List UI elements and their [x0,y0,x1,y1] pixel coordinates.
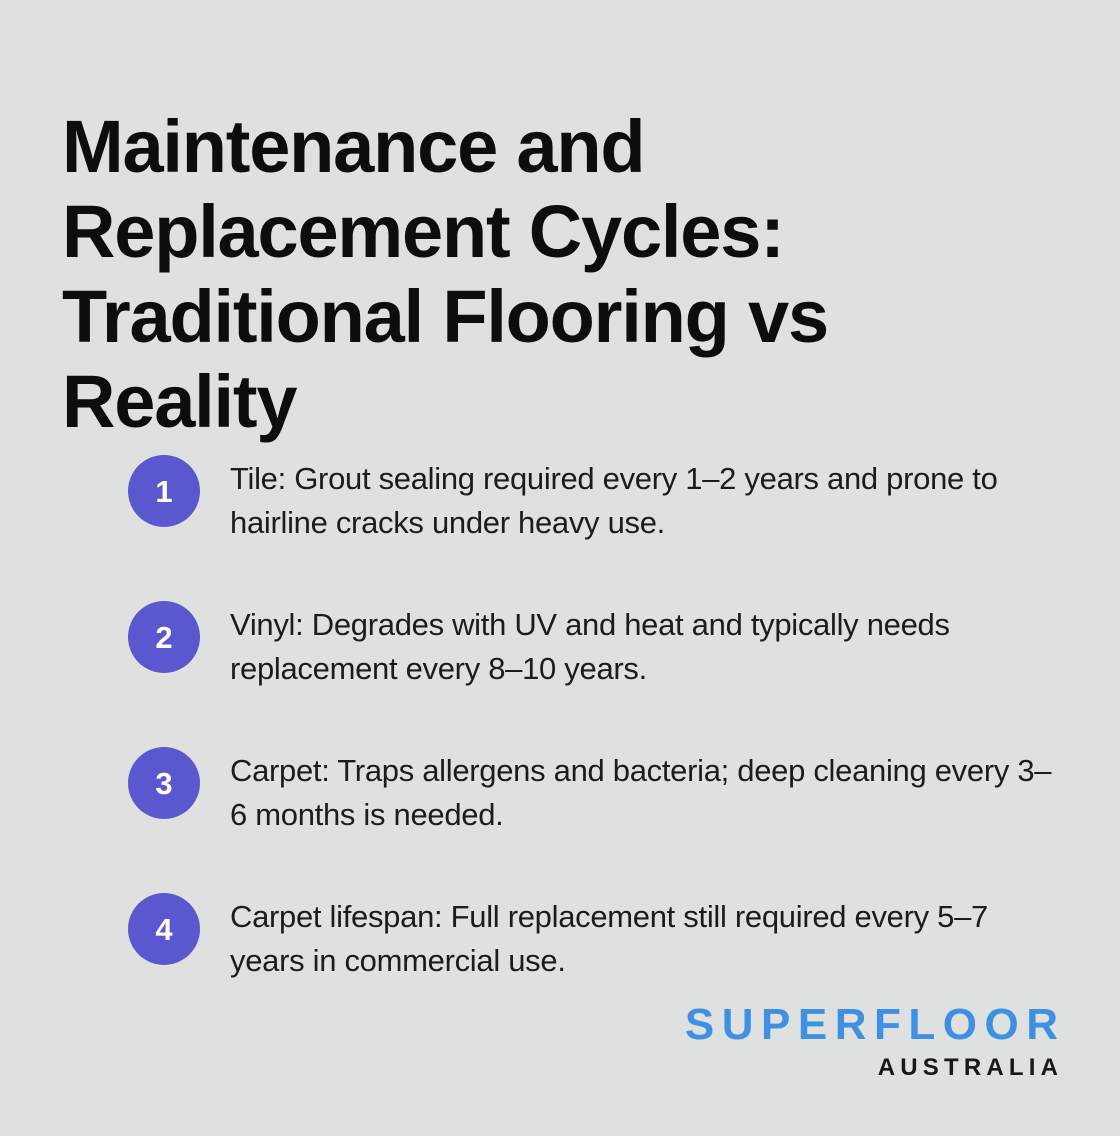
list-item: 4 Carpet lifespan: Full replacement stil… [128,893,1068,983]
list-item-number-badge: 4 [128,893,200,965]
list-item-number-badge: 1 [128,455,200,527]
list-item-number-badge: 3 [128,747,200,819]
brand-logo: SUPERFLOOR AUSTRALIA [685,1003,1058,1080]
title-block: Maintenance and Replacement Cycles: Trad… [62,104,1062,444]
brand-logo-secondary-text: AUSTRALIA [685,1056,1063,1080]
list-item-number-badge: 2 [128,601,200,673]
numbered-list: 1 Tile: Grout sealing required every 1–2… [128,455,1068,983]
list-item-text: Carpet: Traps allergens and bacteria; de… [230,749,1068,837]
list-item-text: Carpet lifespan: Full replacement still … [230,895,1068,983]
list-item-text: Vinyl: Degrades with UV and heat and typ… [230,603,1068,691]
brand-logo-primary-text: SUPERFLOOR [685,1003,1066,1047]
list-item: 2 Vinyl: Degrades with UV and heat and t… [128,601,1068,691]
list-item: 3 Carpet: Traps allergens and bacteria; … [128,747,1068,837]
infographic-canvas: Maintenance and Replacement Cycles: Trad… [0,0,1120,1136]
list-item: 1 Tile: Grout sealing required every 1–2… [128,455,1068,545]
page-title: Maintenance and Replacement Cycles: Trad… [62,104,1062,444]
list-item-text: Tile: Grout sealing required every 1–2 y… [230,457,1068,545]
